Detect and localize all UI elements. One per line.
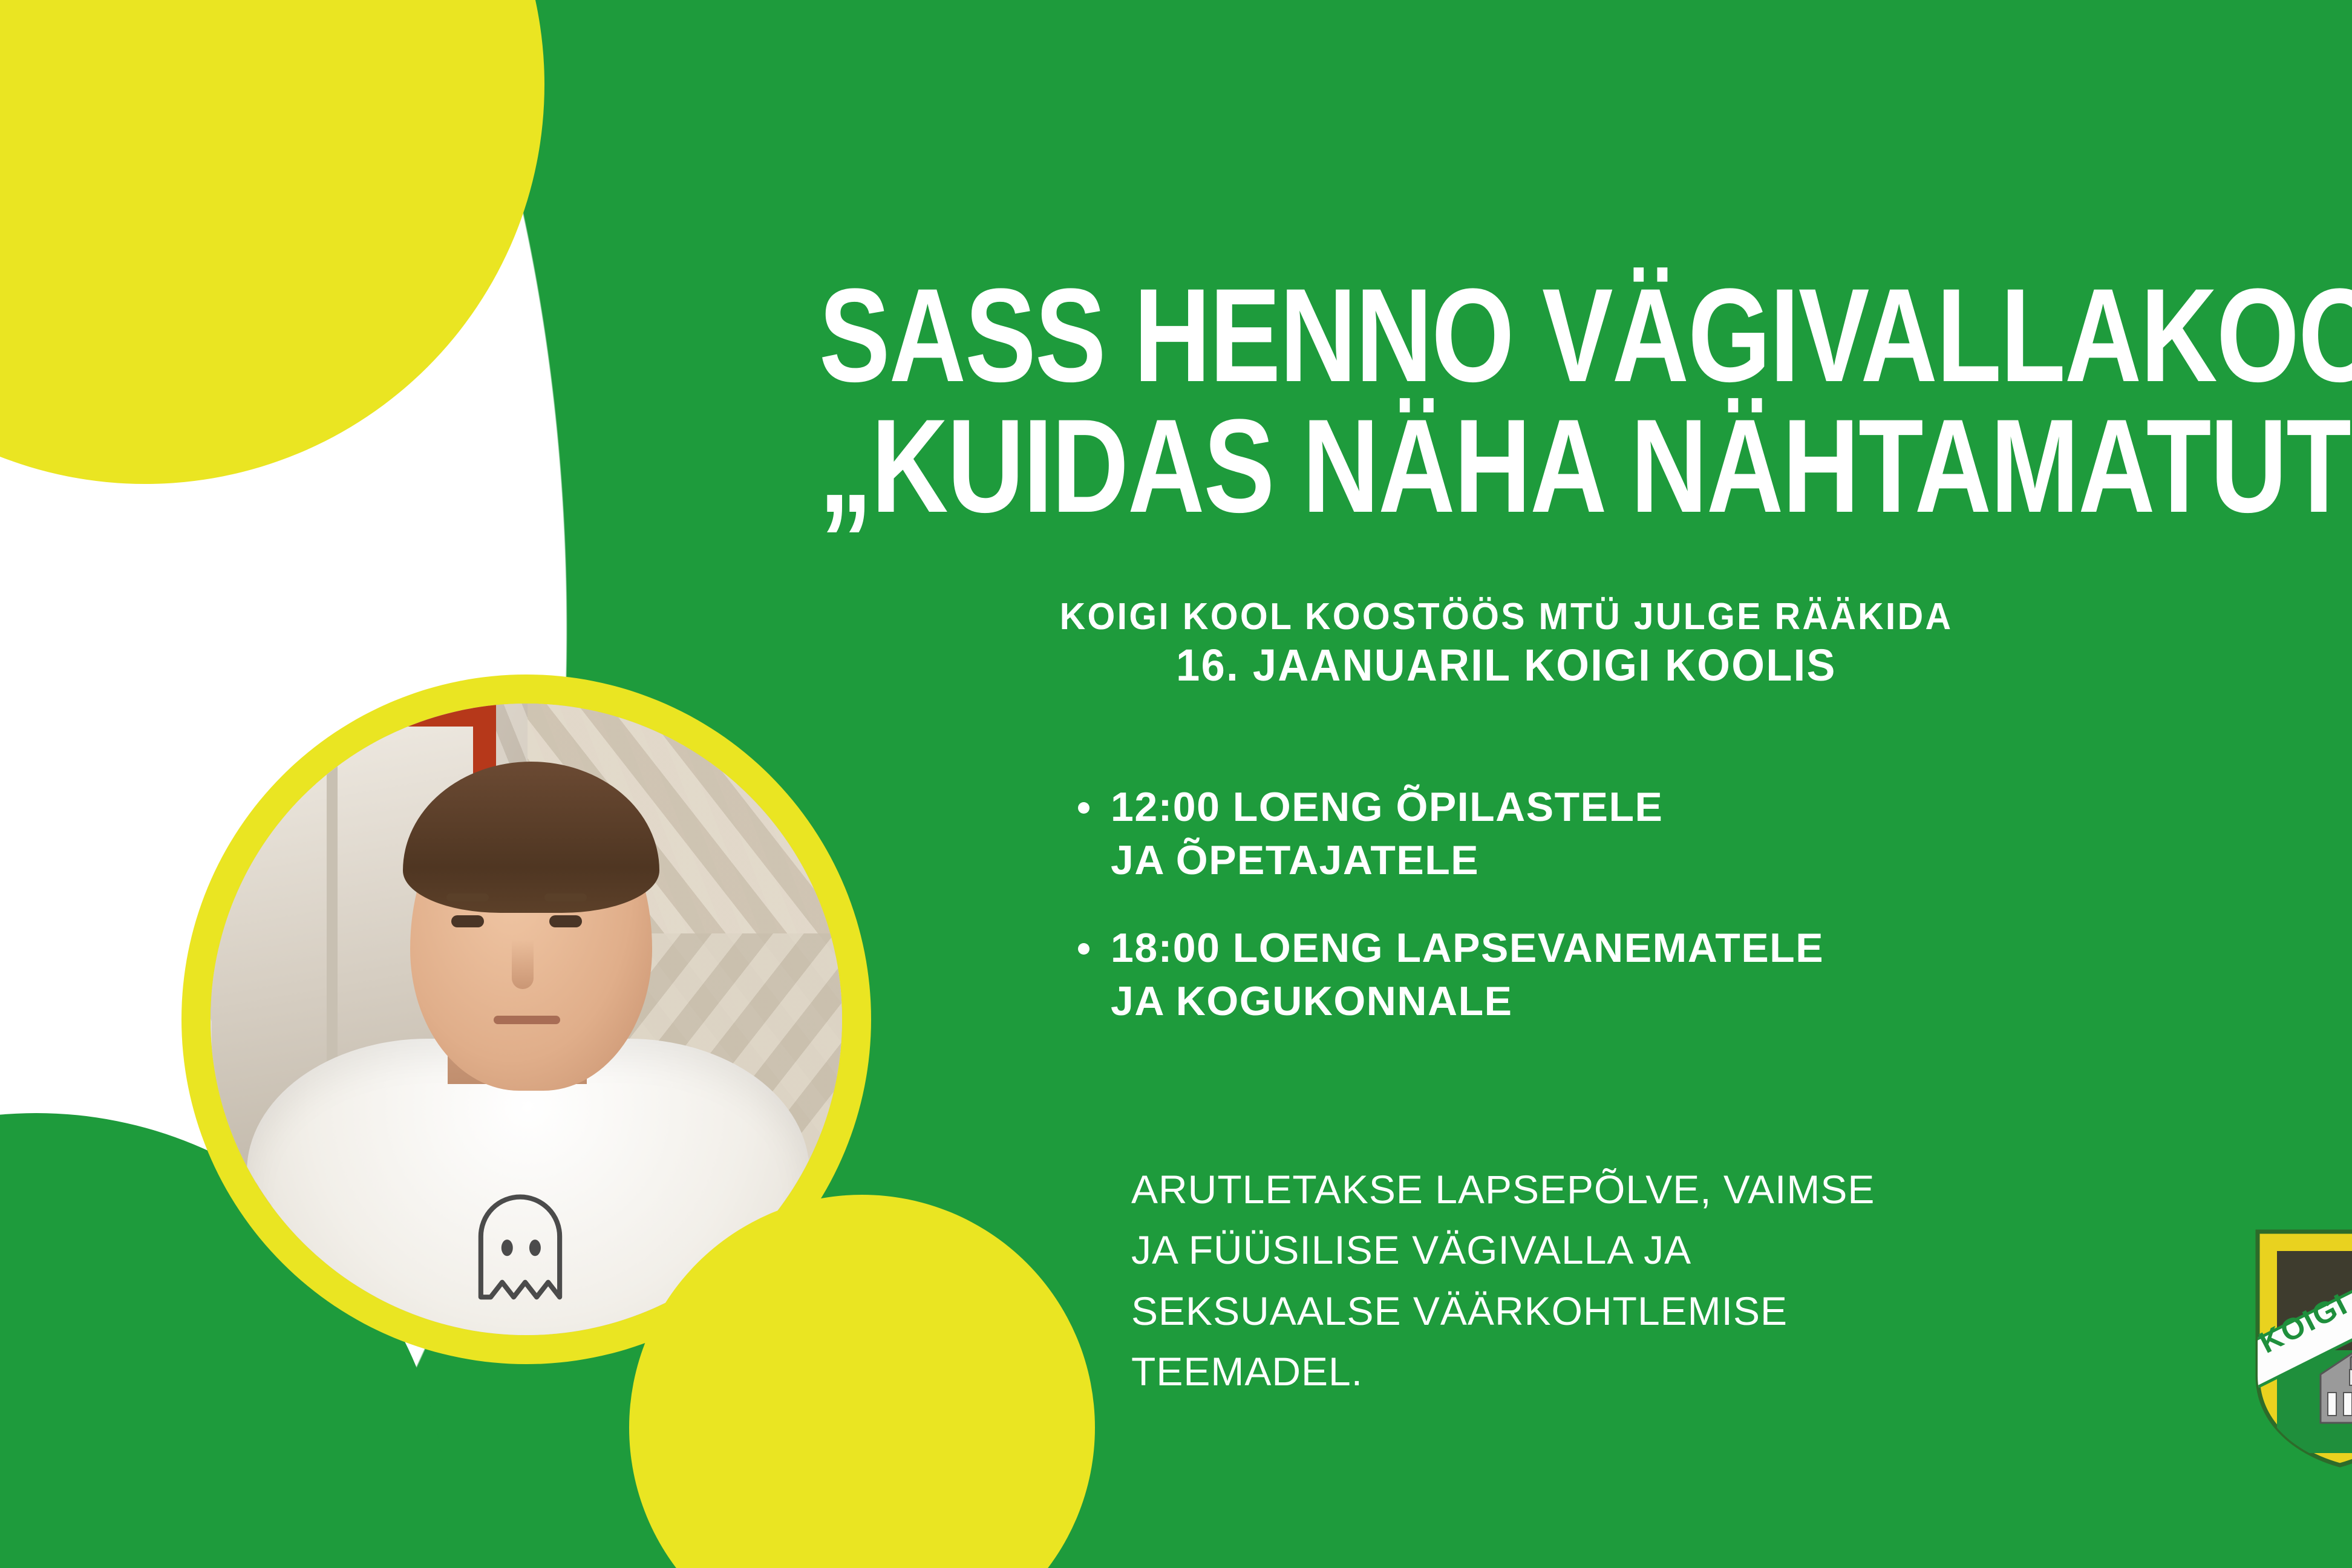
photo-nose xyxy=(512,939,534,989)
photo-eye-left xyxy=(451,915,484,927)
subtitle-organizer: KOIGI KOOL KOOSTÖÖS MTÜ JULGE RÄÄKIDA xyxy=(696,596,2317,638)
photo-mouth xyxy=(494,1016,560,1024)
text-content-column: SASS HENNO VÄGIVALLAKOOL: „KUIDAS NÄHA N… xyxy=(653,0,2352,1568)
schedule-item-1-line-1: 12:00 LOENG ÕPILASTELE xyxy=(1111,784,1663,830)
description-line-1: ARUTLETAKSE LAPSEPÕLVE, VAIMSE xyxy=(1131,1159,2341,1220)
page-title: SASS HENNO VÄGIVALLAKOOL: „KUIDAS NÄHA N… xyxy=(819,270,2145,531)
list-item: 12:00 LOENG ÕPILASTELE JA ÕPETAJATELE xyxy=(1077,780,2347,887)
description-paragraph: ARUTLETAKSE LAPSEPÕLVE, VAIMSE JA FÜÜSIL… xyxy=(1131,1159,2341,1402)
schedule-list: 12:00 LOENG ÕPILASTELE JA ÕPETAJATELE 18… xyxy=(1077,780,2347,1062)
koigi-kool-crest: KOIGI K xyxy=(2249,1223,2352,1472)
poster-canvas: KOIGI K SASS HENNO VÄGIVALLAKOOL: „KUIDA… xyxy=(0,0,2352,1568)
photo-eyebrow-left xyxy=(446,893,489,901)
schedule-item-2-line-1: 18:00 LOENG LAPSEVANEMATELE xyxy=(1111,925,1824,971)
description-line-3: SEKSUAALSE VÄÄRKOHTLEMISE xyxy=(1131,1281,2341,1341)
photo-eyebrow-right xyxy=(544,893,587,901)
description-line-2: JA FÜÜSILISE VÄGIVALLA JA xyxy=(1131,1220,2341,1280)
subtitle-date-venue: 16. JAANUARIL KOIGI KOOLIS xyxy=(696,638,2317,694)
description-line-4: TEEMADEL. xyxy=(1131,1341,2341,1402)
title-line-2: „KUIDAS NÄHA NÄHTAMATUT?" xyxy=(819,401,2145,532)
title-line-1: SASS HENNO VÄGIVALLAKOOL: xyxy=(819,261,2352,410)
schedule-item-1-line-2: JA ÕPETAJATELE xyxy=(1111,834,2347,887)
schedule-item-2-line-2: JA KOGUKONNALE xyxy=(1111,975,2347,1028)
list-item: 18:00 LOENG LAPSEVANEMATELE JA KOGUKONNA… xyxy=(1077,921,2347,1028)
photo-eye-right xyxy=(549,915,582,927)
ghost-icon xyxy=(469,1189,571,1304)
subtitle-block: KOIGI KOOL KOOSTÖÖS MTÜ JULGE RÄÄKIDA 16… xyxy=(653,596,2352,694)
